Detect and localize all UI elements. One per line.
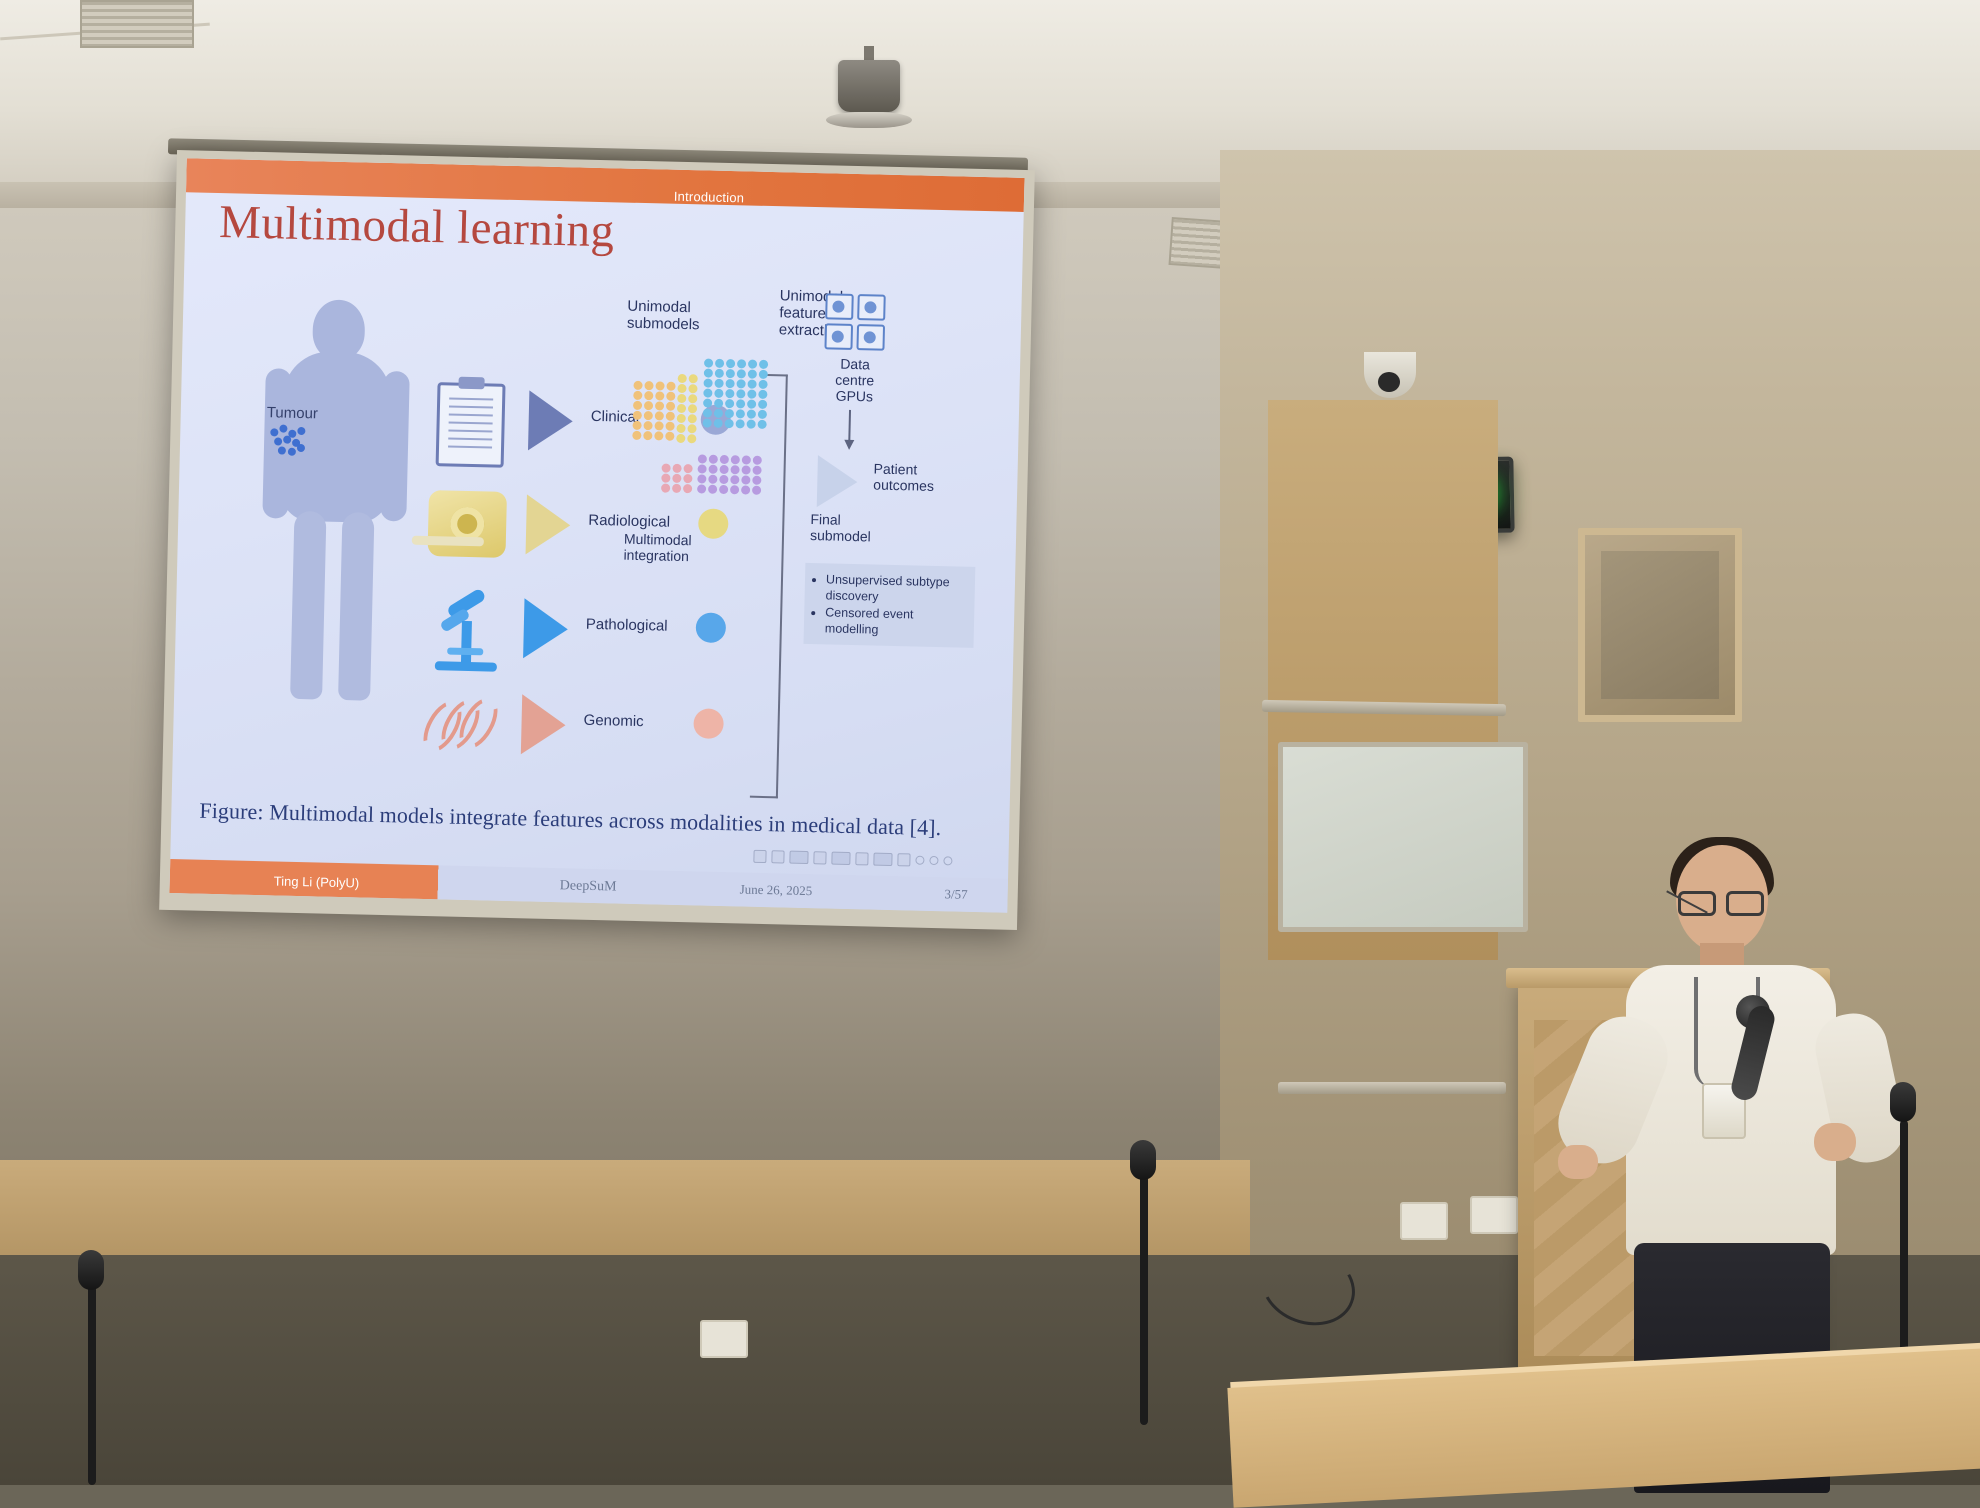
wall-outlet-1 bbox=[700, 1320, 748, 1358]
dna-helix-icon bbox=[421, 680, 507, 768]
label-data-centre-gpus: DatacentreGPUs bbox=[821, 355, 888, 405]
slide-title: Multimodal learning bbox=[219, 195, 615, 258]
label-unimodal-submodels: Unimodalsubmodels bbox=[627, 299, 700, 334]
lecture-room: 12:20 bbox=[0, 0, 1980, 1485]
presenter-right-hand bbox=[1814, 1123, 1856, 1161]
bullet-item-1: Censored event modelling bbox=[825, 604, 966, 640]
footer-author: Ting Li (PolyU) bbox=[274, 873, 360, 890]
tumour-label: Tumour bbox=[267, 404, 319, 422]
prev-frame-icon[interactable] bbox=[771, 850, 784, 863]
figure-caption: Figure: Multimodal models integrate feat… bbox=[199, 798, 979, 842]
back-icon[interactable] bbox=[813, 851, 826, 864]
forward-icon[interactable] bbox=[831, 852, 850, 865]
desk-microphone-head-2 bbox=[1130, 1140, 1156, 1180]
footer-date: June 26, 2025 bbox=[740, 881, 813, 899]
footer-page-number: 3/57 bbox=[944, 886, 967, 903]
modality-label-genomic: Genomic bbox=[583, 712, 643, 730]
clipboard-icon bbox=[428, 376, 514, 464]
cluster-pink bbox=[661, 464, 694, 494]
genomic-submodel-icon bbox=[521, 694, 566, 755]
genomic-feature-dot bbox=[693, 708, 724, 739]
prev-slide-icon[interactable] bbox=[789, 851, 808, 864]
human-body-silhouette-icon bbox=[252, 298, 417, 702]
last-slide-icon[interactable] bbox=[897, 853, 910, 866]
undo-icon[interactable] bbox=[915, 856, 924, 865]
microscope-icon bbox=[423, 584, 509, 672]
modality-label-pathological: Pathological bbox=[586, 616, 668, 635]
pathological-feature-dot bbox=[696, 612, 727, 643]
wall-outlet-2 bbox=[1400, 1202, 1448, 1240]
next-slide-icon[interactable] bbox=[855, 852, 868, 865]
label-multimodal-integration: Multimodalintegration bbox=[623, 531, 691, 565]
first-slide-icon[interactable] bbox=[753, 850, 766, 863]
flow-arrow-down-icon bbox=[842, 410, 857, 452]
desk-microphone-head-3 bbox=[1890, 1082, 1916, 1122]
whiteboard bbox=[1278, 742, 1528, 932]
search-icon[interactable] bbox=[943, 856, 952, 865]
multimodal-integration-cluster bbox=[630, 337, 814, 531]
outcomes-bullet-box: Unsupervised subtype discovery Censored … bbox=[804, 563, 976, 648]
presentation-slide: Introduction Multimodal learning Tumour bbox=[169, 158, 1024, 913]
cluster-orange bbox=[632, 381, 676, 441]
multimodal-figure: Tumour Unimodalsubmodels Unimodalfeature… bbox=[215, 275, 982, 763]
slide-section-tab: Introduction bbox=[656, 169, 763, 208]
bullet-item-0: Unsupervised subtype discovery bbox=[825, 571, 966, 607]
glasses-icon bbox=[1678, 891, 1764, 911]
desk-microphone-stand-2 bbox=[1140, 1175, 1148, 1425]
desk-microphone-head-1 bbox=[78, 1250, 104, 1290]
projection-screen-assembly: Introduction Multimodal learning Tumour bbox=[168, 160, 1026, 920]
pathological-submodel-icon bbox=[523, 598, 568, 659]
footer-title: DeepSuM bbox=[560, 878, 617, 895]
presenter-left-hand bbox=[1558, 1145, 1598, 1179]
cluster-purple bbox=[697, 454, 763, 495]
desk-microphone-stand-1 bbox=[88, 1280, 96, 1485]
label-patient-outcomes: Patientoutcomes bbox=[873, 461, 954, 495]
wall-outlet-3 bbox=[1470, 1196, 1518, 1234]
data-centre-gpu-icon bbox=[824, 293, 885, 350]
radiological-submodel-icon bbox=[526, 494, 571, 555]
redo-icon[interactable] bbox=[929, 856, 938, 865]
tumour-cluster-icon bbox=[270, 424, 309, 459]
ceiling-vent-left bbox=[80, 0, 194, 48]
label-final-submodel: Finalsubmodel bbox=[810, 511, 895, 545]
final-submodel-icon bbox=[817, 455, 858, 508]
mri-scanner-icon bbox=[425, 480, 511, 568]
beamer-navigation-bar[interactable] bbox=[753, 850, 952, 868]
next-frame-icon[interactable] bbox=[873, 853, 892, 866]
cluster-blue bbox=[703, 358, 770, 429]
desk-microphone-stand-3 bbox=[1900, 1120, 1908, 1360]
clinical-submodel-icon bbox=[528, 390, 573, 451]
wall-frame bbox=[1578, 528, 1742, 722]
cluster-yellow bbox=[676, 374, 699, 443]
ceiling-spotlight-1 bbox=[838, 46, 912, 128]
whiteboard-ledge bbox=[1278, 1082, 1506, 1094]
